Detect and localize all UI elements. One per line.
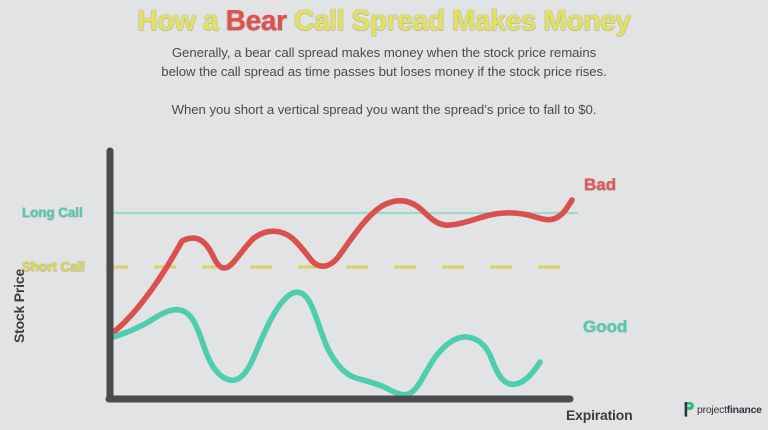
good-curve-line <box>110 292 540 395</box>
logo-text-light: project <box>697 404 727 416</box>
logo-text-bold: finance <box>727 404 762 416</box>
short-call-label: Short Call <box>22 259 85 274</box>
projectfinance-logo-text: projectfinance <box>697 404 762 416</box>
long-call-label: Long Call <box>22 205 83 220</box>
title-part-2: Call Spread Makes Money <box>287 5 631 37</box>
projectfinance-logo: projectfinance <box>683 402 762 417</box>
subtitle-line-2: below the call spread as time passes but… <box>0 62 768 81</box>
projectfinance-leaf-icon <box>683 402 694 417</box>
subtitle-line-1: Generally, a bear call spread makes mone… <box>0 43 768 62</box>
subtitle-block-primary: Generally, a bear call spread makes mone… <box>0 43 768 81</box>
bad-curve-label: Bad <box>584 175 616 195</box>
header: How a Bear Call Spread Makes Money Gener… <box>0 0 768 119</box>
x-axis-label: Expiration <box>566 407 632 423</box>
title-part-1: How a <box>137 5 225 37</box>
subtitle-block-secondary: When you short a vertical spread you wan… <box>0 100 768 119</box>
page-title: How a Bear Call Spread Makes Money <box>12 0 757 36</box>
subtitle-line-3: When you short a vertical spread you wan… <box>0 100 768 119</box>
title-accent-bear: Bear <box>226 5 287 37</box>
chart-canvas <box>0 130 768 430</box>
good-curve-label: Good <box>583 317 627 337</box>
payoff-chart: Stock Price Expiration Long Call Short C… <box>0 130 768 430</box>
